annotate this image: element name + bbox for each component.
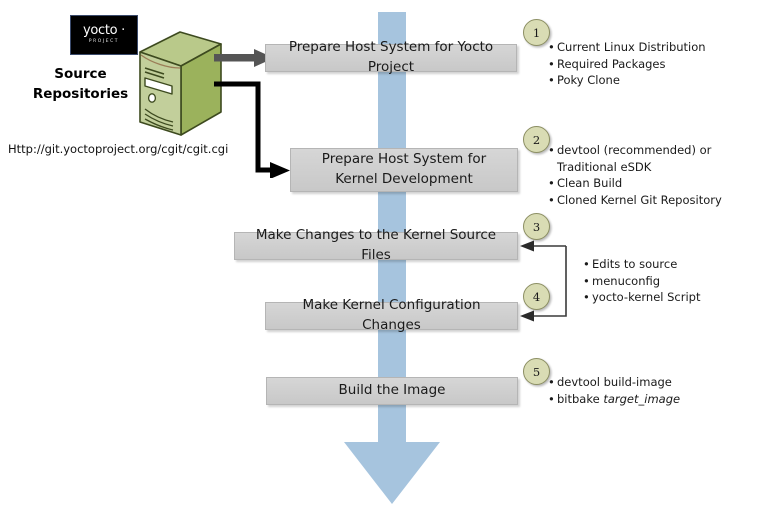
yocto-logo-word: yocto ·: [83, 24, 125, 37]
yocto-logo-subtitle: PROJECT: [89, 38, 119, 46]
bullet-dot-icon: •: [548, 39, 557, 56]
step-box-1[interactable]: Prepare Host System for Yocto Project: [265, 44, 517, 72]
source-repositories-url: Http://git.yoctoproject.org/cgit/cgit.cg…: [8, 142, 228, 156]
list-item: •Edits to source: [583, 256, 701, 273]
step-5-bullets: •devtool build-image •bitbake target_ima…: [548, 374, 680, 407]
bullet-dot-icon: •: [548, 142, 557, 159]
source-repositories-label-line1: Source: [18, 64, 143, 84]
step-2-bullets: •devtool (recommended) or Traditional eS…: [548, 142, 722, 208]
bitbake-target-image-italic: target_image: [603, 391, 680, 408]
list-item: •devtool build-image: [548, 374, 680, 391]
step-box-2[interactable]: Prepare Host System for Kernel Developme…: [290, 148, 518, 192]
source-repositories-label: Source Repositories: [18, 64, 143, 104]
step-box-5[interactable]: Build the Image: [266, 377, 518, 405]
list-item: •bitbake target_image: [548, 391, 680, 408]
list-item: •devtool (recommended) or Traditional eS…: [548, 142, 722, 175]
source-repositories-label-line2: Repositories: [18, 84, 143, 104]
step-1-bullets: •Current Linux Distribution •Required Pa…: [548, 39, 706, 89]
bullet-dot-icon: •: [583, 289, 592, 306]
bullet-dot-icon: •: [548, 374, 557, 391]
step-circle-1: 1: [523, 19, 550, 46]
step-circle-2: 2: [523, 126, 550, 153]
connector-server-to-step2: [214, 80, 294, 182]
bullet-dot-icon: •: [583, 273, 592, 290]
list-item: •Required Packages: [548, 56, 706, 73]
workflow-spine-arrow-icon: [344, 442, 440, 504]
bullet-dot-icon: •: [548, 72, 557, 89]
step-circle-3: 3: [523, 213, 550, 240]
step-box-4[interactable]: Make Kernel Configuration Changes: [265, 302, 518, 330]
list-item: •Current Linux Distribution: [548, 39, 706, 56]
diagram-canvas: yocto · PROJECT Source Repositories Http…: [0, 0, 769, 517]
list-item: •menuconfig: [583, 273, 701, 290]
steps-3-4-shared-bullets: •Edits to source •menuconfig •yocto-kern…: [583, 256, 701, 306]
step-box-3[interactable]: Make Changes to the Kernel Source Files: [234, 232, 518, 260]
bullet-dot-icon: •: [548, 56, 557, 73]
yocto-project-logo: yocto · PROJECT: [70, 15, 138, 55]
bullet-dot-icon: •: [548, 192, 557, 209]
server-icon: [132, 30, 224, 142]
list-item: •yocto-kernel Script: [583, 289, 701, 306]
bullet-dot-icon: •: [548, 175, 557, 192]
bullet-dot-icon: •: [583, 256, 592, 273]
list-item: •Clean Build: [548, 175, 722, 192]
list-item: •Poky Clone: [548, 72, 706, 89]
list-item: •Cloned Kernel Git Repository: [548, 192, 722, 209]
connector-bracket-steps-3-4: [518, 238, 578, 332]
bullet-dot-icon: •: [548, 391, 557, 408]
step-circle-5: 5: [523, 358, 550, 385]
